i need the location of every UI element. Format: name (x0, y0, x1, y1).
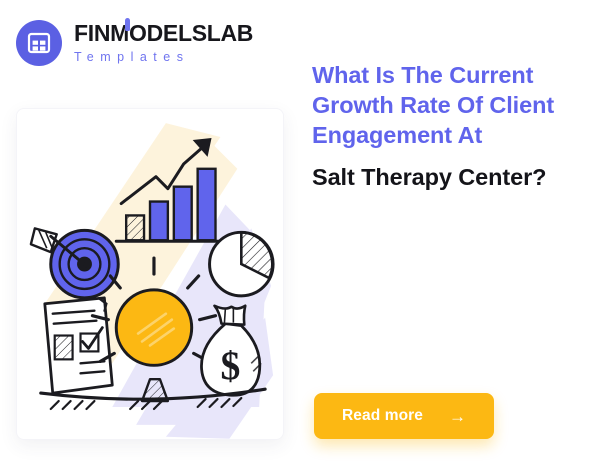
headline-question: What Is The Current Growth Rate Of Clien… (312, 60, 588, 150)
brand-name-label: FINMODELSLAB (74, 20, 253, 46)
illustration-card: $ (16, 108, 284, 440)
page-title: What Is The Current Growth Rate Of Clien… (312, 60, 588, 192)
brand-logo[interactable]: FINMODELSLAB Templates (16, 20, 253, 66)
pie-chart (210, 232, 274, 296)
target-dartboard-with-arrow (31, 228, 118, 297)
promo-banner: FINMODELSLAB Templates (0, 0, 600, 464)
brand-name: FINMODELSLAB (74, 22, 253, 45)
brand-subtitle: Templates (74, 51, 253, 64)
business-growth-illustration: $ (17, 109, 283, 439)
svg-text:$: $ (220, 344, 240, 388)
headline-business: Salt Therapy Center? (312, 162, 588, 192)
brand-text: FINMODELSLAB Templates (74, 22, 253, 64)
document-with-checkmark (45, 298, 112, 393)
read-more-button[interactable]: Read more → (314, 393, 494, 439)
grid-squares-icon (16, 20, 62, 66)
arrow-right-icon: → (449, 408, 466, 425)
droplet-accent-icon (125, 18, 130, 31)
headline-block: What Is The Current Growth Rate Of Clien… (312, 60, 588, 192)
read-more-label: Read more (342, 407, 423, 425)
